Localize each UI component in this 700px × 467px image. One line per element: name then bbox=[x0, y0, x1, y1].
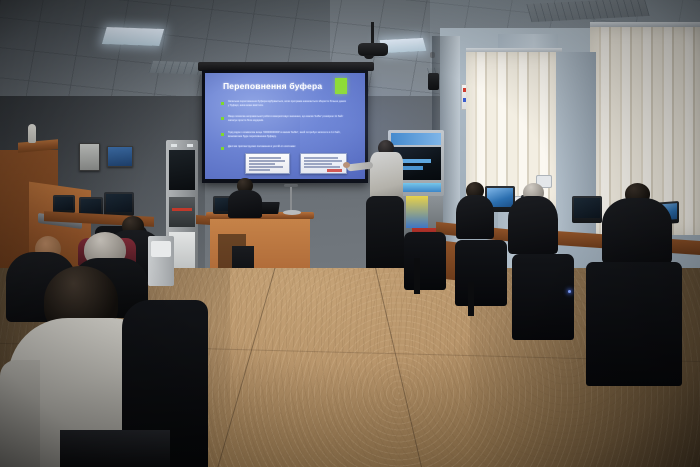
audience-body-r1 bbox=[456, 195, 494, 239]
light-panel-bright-left bbox=[102, 27, 164, 46]
microphone-icon bbox=[284, 184, 298, 187]
operator-body bbox=[228, 190, 262, 218]
cabinet-white-left bbox=[148, 236, 174, 286]
framed-picture-blue bbox=[107, 146, 133, 167]
monitor-backleft-3 bbox=[104, 192, 134, 216]
chair-right-3[interactable] bbox=[512, 254, 574, 340]
bullet-marker-icon bbox=[221, 133, 224, 136]
flag-banner bbox=[406, 196, 428, 228]
audience-body-r2 bbox=[508, 196, 558, 254]
kiosk-dispenser bbox=[169, 197, 195, 227]
bullet-marker-icon bbox=[221, 102, 224, 105]
monitor-right-2[interactable] bbox=[572, 196, 602, 223]
chair-leg-2 bbox=[468, 282, 474, 316]
foreground-lap bbox=[60, 430, 170, 467]
monitor-backleft-1 bbox=[53, 195, 75, 213]
chair-right-1[interactable] bbox=[404, 232, 446, 290]
classroom-photo: Переповнення буфера Загальна переповненн… bbox=[0, 0, 700, 467]
screen-glow bbox=[300, 60, 460, 190]
chair-right-4[interactable] bbox=[586, 262, 682, 386]
chair-leg-1 bbox=[414, 258, 420, 294]
chair-right-2[interactable] bbox=[455, 240, 507, 306]
bullet-marker-icon bbox=[221, 117, 224, 120]
code-box-left bbox=[245, 153, 290, 174]
pc-power-led bbox=[568, 290, 571, 293]
kiosk-card-slot bbox=[172, 208, 192, 211]
bullet-marker-icon bbox=[221, 147, 224, 150]
kiosk-screen bbox=[169, 150, 195, 190]
foreground-person-arm bbox=[0, 360, 40, 467]
podium-lamp-icon bbox=[28, 124, 36, 143]
projector-mount-pole bbox=[371, 22, 374, 44]
audience-body-r3 bbox=[602, 198, 672, 264]
microphone-base bbox=[283, 210, 301, 215]
framed-certificate bbox=[79, 143, 100, 171]
presenter-legs bbox=[366, 196, 404, 274]
